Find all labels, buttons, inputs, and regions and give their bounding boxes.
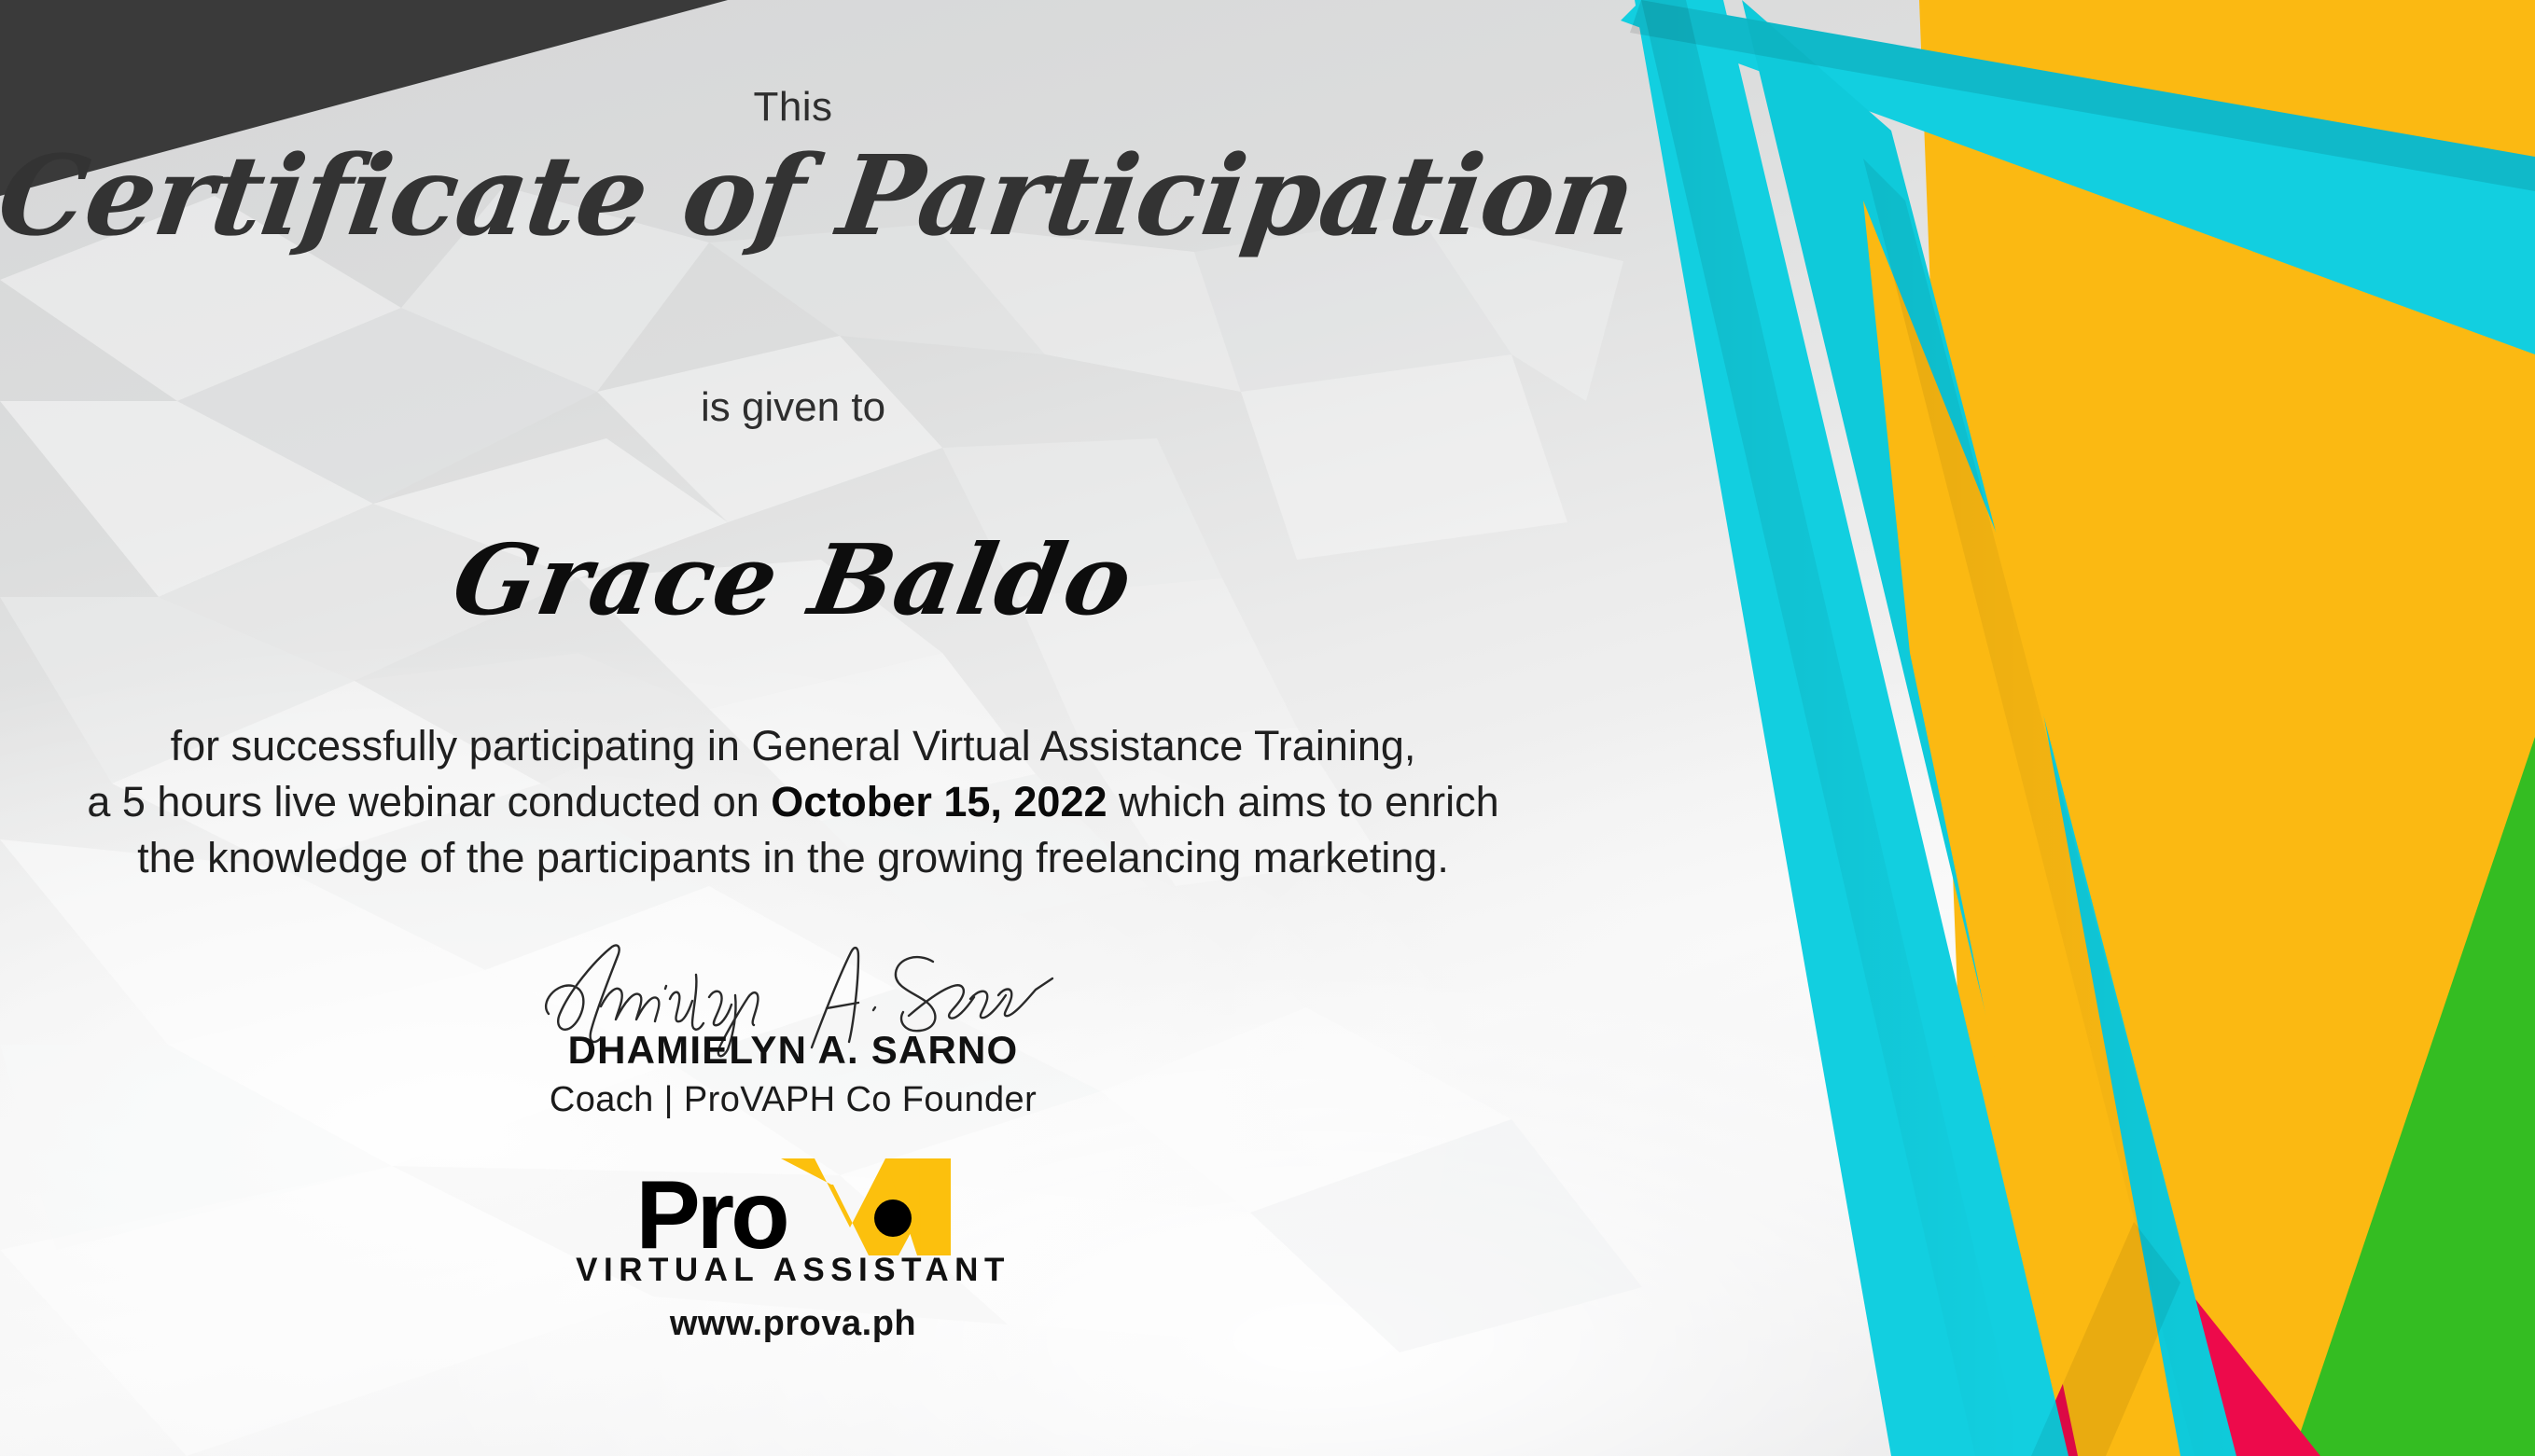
- logo-va-icon: [781, 1158, 951, 1255]
- logo-mark: Pro: [0, 1155, 1586, 1255]
- body-line-2-prefix: a 5 hours live webinar conducted on: [87, 778, 771, 825]
- certificate-content: This Certificate of Participation is giv…: [0, 0, 1586, 1456]
- given-to-line: is given to: [0, 384, 1586, 431]
- logo-wordmark-pro: Pro: [635, 1176, 786, 1255]
- logo-website: www.prova.ph: [0, 1304, 1586, 1344]
- body-copy: for successfully participating in Genera…: [37, 718, 1549, 886]
- certificate-canvas: This Certificate of Participation is giv…: [0, 0, 2535, 1456]
- body-line-3: the knowledge of the participants in the…: [37, 830, 1549, 886]
- body-line-2: a 5 hours live webinar conducted on Octo…: [37, 774, 1549, 830]
- decorative-ribbons: [1583, 0, 2535, 1456]
- signature-block: DHAMIELYN A. SARNO Coach | ProVAPH Co Fo…: [0, 942, 1586, 1120]
- page-title: Certificate of Participation: [0, 131, 1595, 260]
- brand-logo: Pro VIRTUAL ASSISTANT www.prova.ph: [0, 1155, 1586, 1344]
- logo-tagline: VIRTUAL ASSISTANT: [0, 1252, 1586, 1289]
- signer-name: DHAMIELYN A. SARNO: [0, 1028, 1586, 1073]
- signer-role: Coach | ProVAPH Co Founder: [0, 1080, 1586, 1120]
- intro-line: This: [0, 84, 1586, 131]
- recipient-name: Grace Baldo: [0, 522, 1596, 637]
- event-date: October 15, 2022: [771, 778, 1107, 825]
- body-line-2-suffix: which aims to enrich: [1107, 778, 1499, 825]
- body-line-1: for successfully participating in Genera…: [37, 718, 1549, 774]
